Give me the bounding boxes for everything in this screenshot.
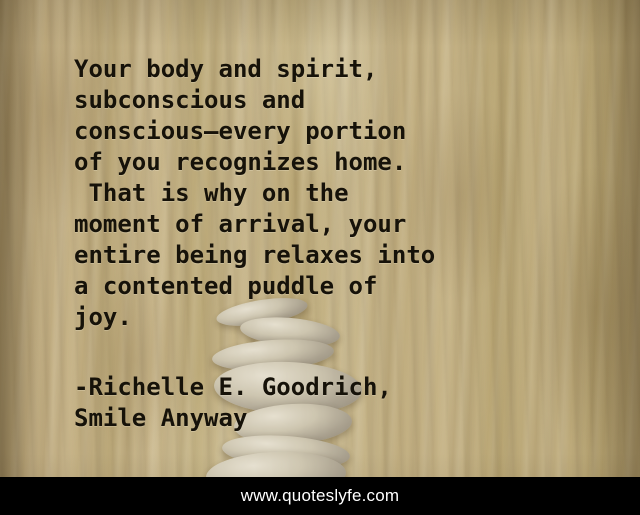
- footer-bar: www.quoteslyfe.com: [0, 477, 640, 515]
- quote-line: subconscious and: [74, 85, 614, 116]
- quote-text: Your body and spirit, subconscious and c…: [74, 54, 614, 333]
- quote-line: Your body and spirit,: [74, 54, 614, 85]
- quote-line: moment of arrival, your: [74, 209, 614, 240]
- quote-attribution: -Richelle E. Goodrich, Smile Anyway: [74, 372, 614, 434]
- quote-line: joy.: [74, 302, 614, 333]
- quote-line: of you recognizes home.: [74, 147, 614, 178]
- quote-line: conscious—every portion: [74, 116, 614, 147]
- quote-line: That is why on the: [74, 178, 614, 209]
- site-url[interactable]: www.quoteslyfe.com: [241, 486, 400, 506]
- quote-line: a contented puddle of: [74, 271, 614, 302]
- attribution-source: Smile Anyway: [74, 403, 614, 434]
- attribution-author: -Richelle E. Goodrich,: [74, 372, 614, 403]
- quote-line: entire being relaxes into: [74, 240, 614, 271]
- quote-card: Your body and spirit, subconscious and c…: [0, 0, 640, 515]
